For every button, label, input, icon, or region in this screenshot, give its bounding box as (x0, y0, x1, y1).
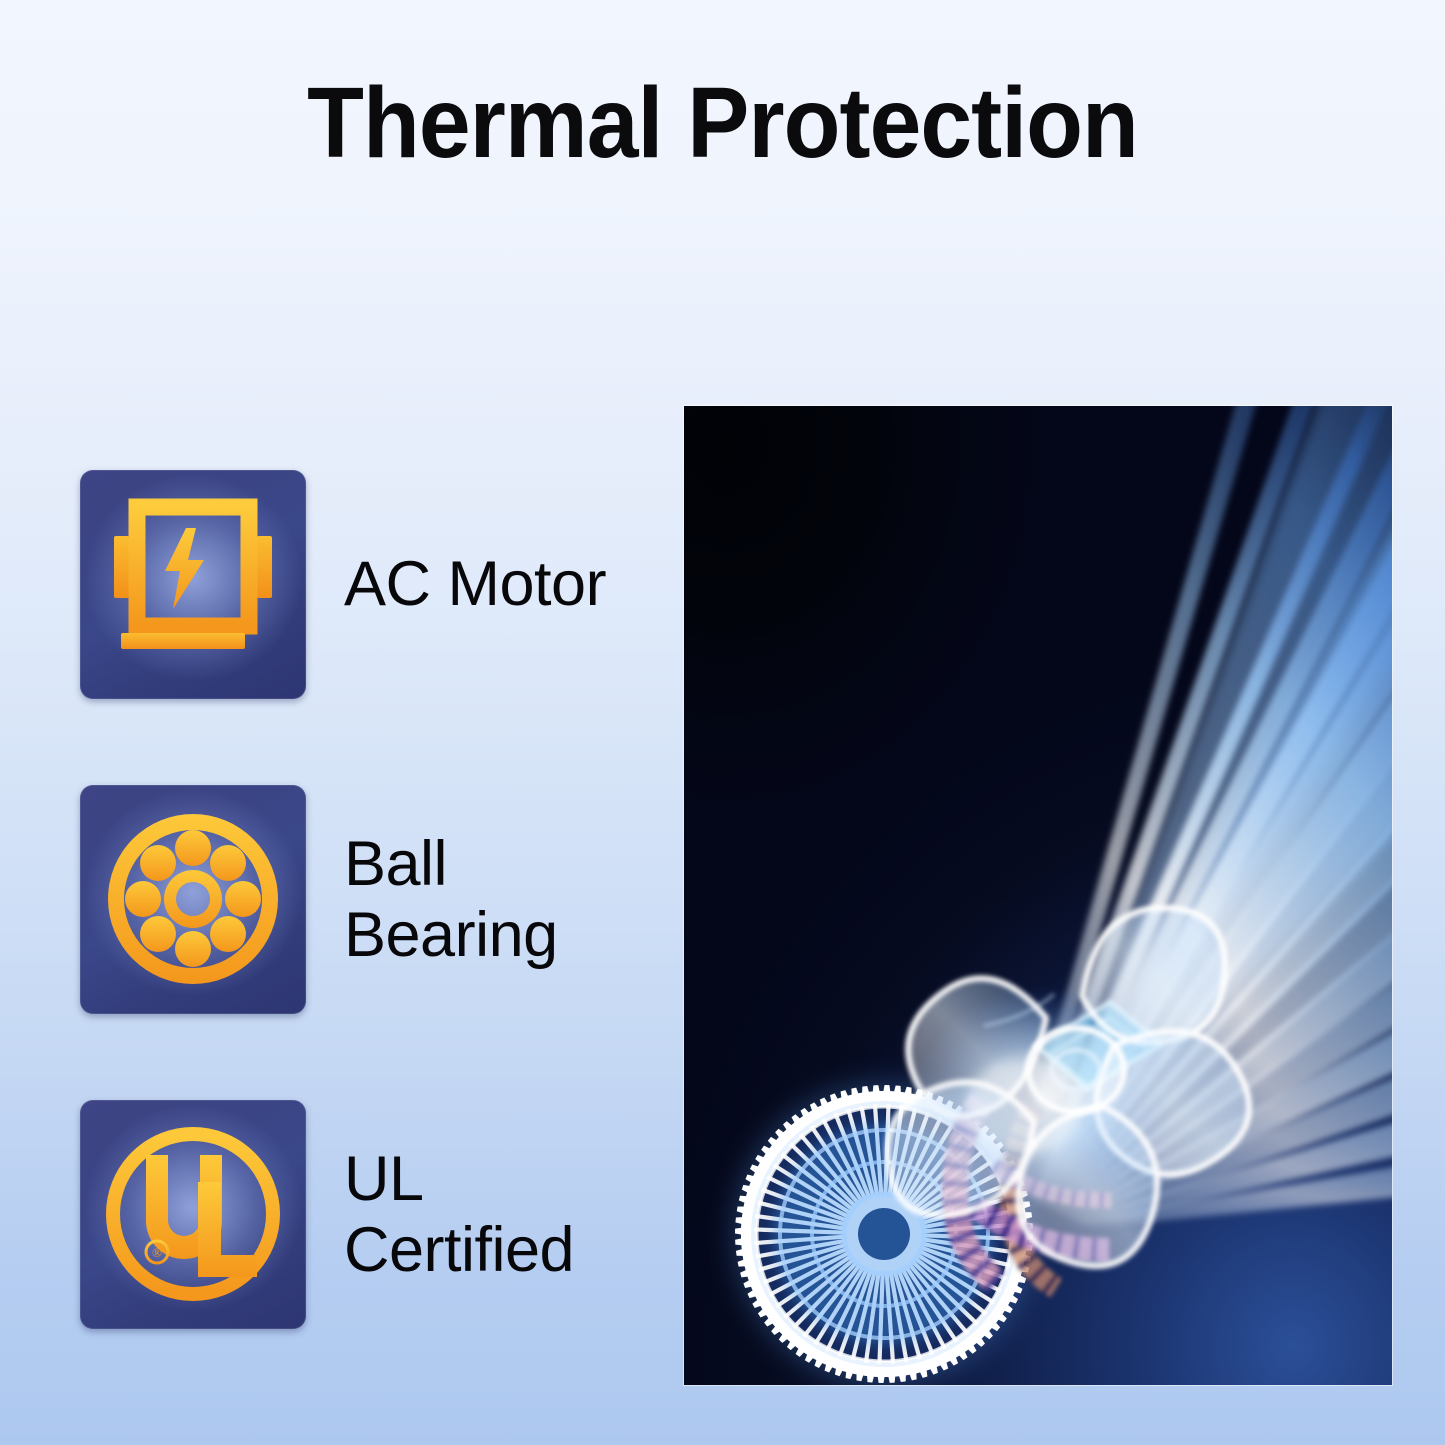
feature-label-ul-certified: UL Certified (344, 1144, 574, 1285)
page-title: Thermal Protection (51, 72, 1395, 174)
feature-icon-tile-ul-certified: ® (80, 1100, 306, 1329)
ac-motor-icon (80, 470, 306, 699)
feature-item-ac-motor[interactable]: AC Motor (80, 470, 606, 699)
ul-registered-mark: ® (152, 1245, 162, 1260)
feature-icon-tile-ac-motor (80, 470, 306, 699)
feature-label-ball-bearing: Ball Bearing (344, 829, 558, 970)
feature-item-ul-certified[interactable]: ® UL Certified (80, 1100, 574, 1329)
feature-icon-tile-ball-bearing (80, 785, 306, 1014)
feature-label-ac-motor: AC Motor (344, 549, 606, 620)
ball-bearing-icon (80, 785, 306, 1014)
feature-item-ball-bearing[interactable]: Ball Bearing (80, 785, 558, 1014)
fan-motor-cutaway-photo (684, 406, 1392, 1385)
ul-certified-icon: ® (80, 1100, 306, 1329)
fan-assembly-artwork (684, 406, 1392, 1385)
